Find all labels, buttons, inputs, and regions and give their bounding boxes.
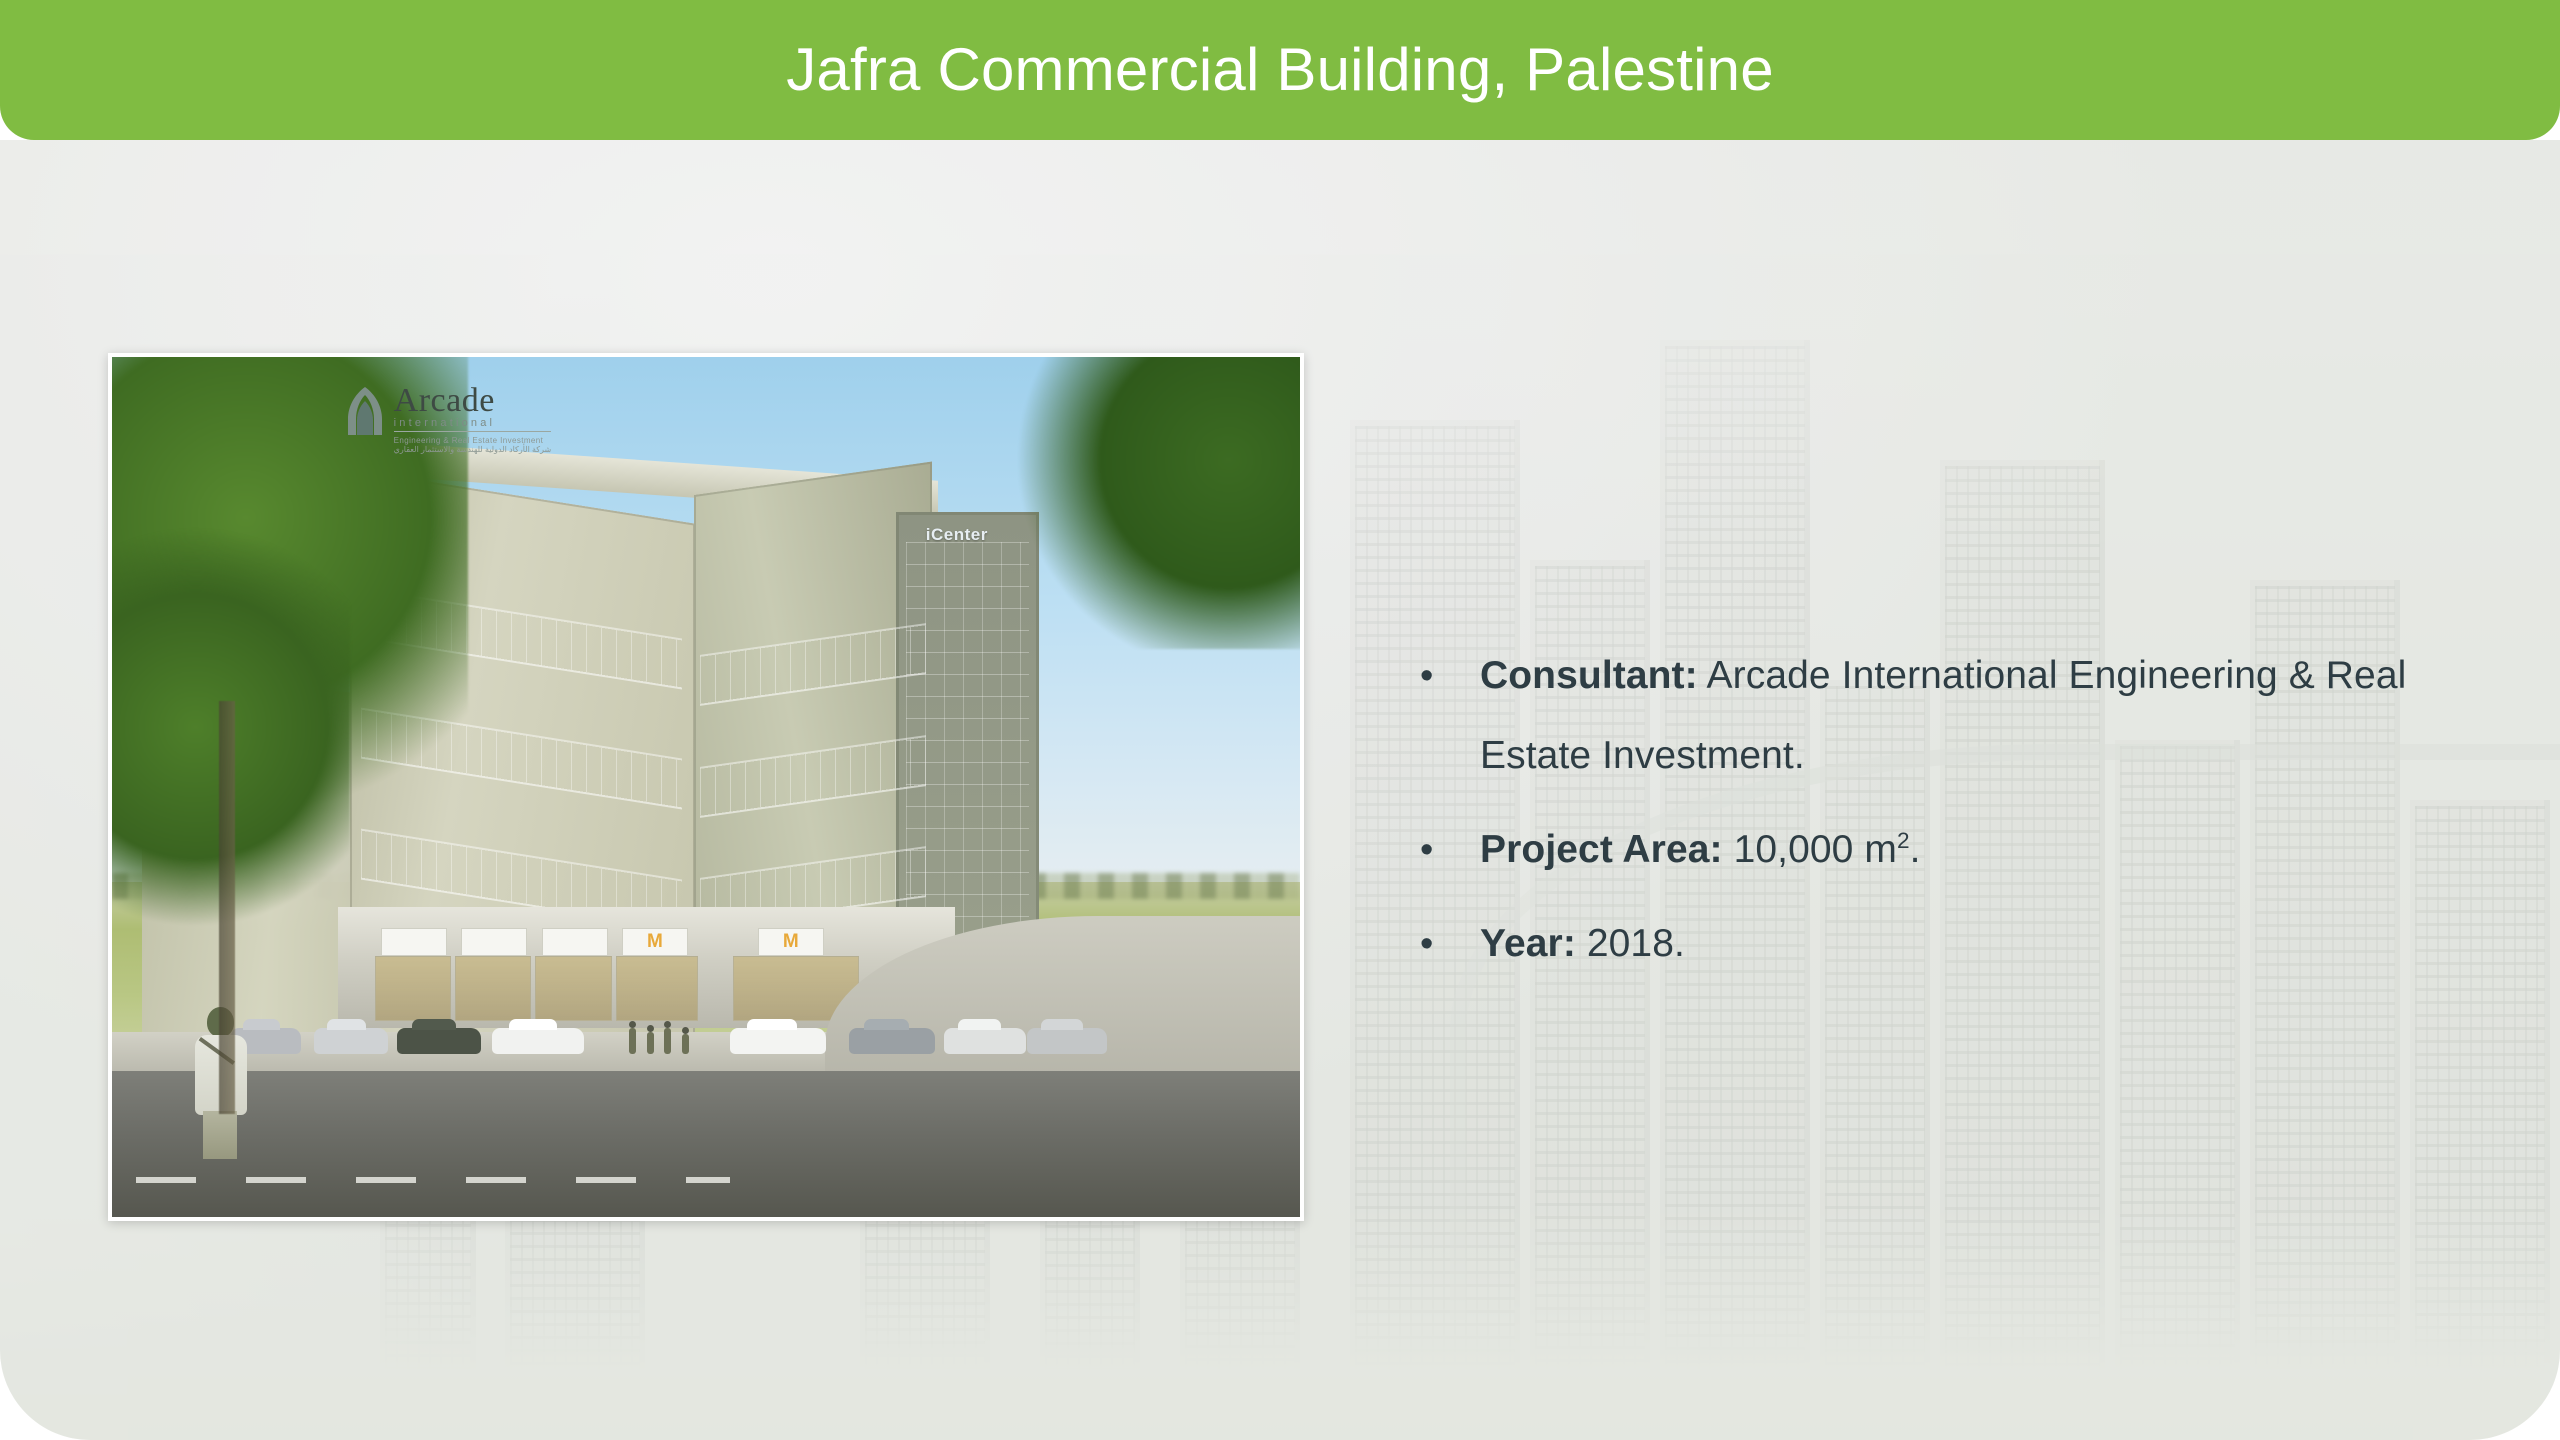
bullet-marker: • [1420, 636, 1480, 716]
arcade-logo: Arcade international Engineering & Real … [344, 385, 552, 454]
list-item-project-area: • Project Area: 10,000 m2. [1420, 810, 2420, 890]
tree-foliage [1015, 357, 1300, 649]
arcade-logo-tagline-en: Engineering & Real Estate Investment [394, 436, 552, 445]
photo-road-marking [136, 1177, 730, 1183]
list-item-consultant: • Consultant: Arcade International Engin… [1420, 636, 2420, 796]
shop-sign [381, 928, 447, 956]
car [849, 1028, 935, 1054]
list-item-year: • Year: 2018. [1420, 904, 2420, 984]
car [492, 1028, 584, 1054]
project-details-list: • Consultant: Arcade International Engin… [1420, 636, 2420, 998]
car [397, 1028, 481, 1054]
slide: Jafra Commercial Building, Palestine iCe… [0, 0, 2560, 1440]
arch-icon [344, 385, 386, 437]
year-text: Year: 2018. [1480, 904, 1685, 984]
bullet-marker: • [1420, 810, 1480, 890]
arcade-logo-tagline-ar: شركة الأركاد الدولية للهندسة والاستثمار … [394, 445, 552, 454]
project-area-text: Project Area: 10,000 m2. [1480, 810, 1921, 890]
golden-arches-icon: M [647, 932, 663, 951]
pedestrian [647, 1032, 654, 1054]
shop-window [535, 956, 611, 1021]
year-value: 2018. [1587, 922, 1685, 965]
shop-window [455, 956, 531, 1021]
shop-sign-mcdonalds: M [622, 928, 688, 956]
shop-sign [461, 928, 527, 956]
pedestrian [682, 1034, 689, 1054]
project-area-value-suffix: . [1910, 828, 1921, 871]
header-bar: Jafra Commercial Building, Palestine [0, 0, 2560, 140]
consultant-label: Consultant: [1480, 654, 1698, 697]
pedestrian [664, 1028, 671, 1054]
project-area-unit-exponent: 2 [1897, 828, 1910, 853]
car [944, 1028, 1026, 1054]
project-photo-image: iCenter M M [112, 357, 1300, 1217]
project-area-value: 10,000 m [1734, 828, 1897, 871]
shop-window [616, 956, 698, 1021]
arcade-logo-subtitle: international [394, 417, 552, 432]
pedestrian [629, 1028, 636, 1054]
project-photo: iCenter M M [108, 353, 1304, 1221]
pedestrian-legs [203, 1111, 237, 1159]
arcade-logo-text: Arcade international Engineering & Real … [394, 385, 552, 454]
consultant-text: Consultant: Arcade International Enginee… [1480, 636, 2420, 796]
tree-trunk [219, 701, 235, 1114]
arcade-logo-name: Arcade [394, 385, 552, 417]
shop-sign [542, 928, 608, 956]
car [314, 1028, 388, 1054]
watermark-fade-bottom [0, 1210, 2560, 1440]
year-label: Year: [1480, 922, 1576, 965]
golden-arches-icon: M [783, 932, 799, 951]
bullet-marker: • [1420, 904, 1480, 984]
car [1027, 1028, 1107, 1054]
photo-road [112, 1071, 1300, 1217]
project-area-label: Project Area: [1480, 828, 1723, 871]
page-title: Jafra Commercial Building, Palestine [786, 40, 1774, 100]
car [730, 1028, 826, 1054]
shop-window [375, 956, 451, 1021]
tower-sign-label: iCenter [926, 525, 988, 545]
shop-sign-mcdonalds: M [758, 928, 824, 956]
